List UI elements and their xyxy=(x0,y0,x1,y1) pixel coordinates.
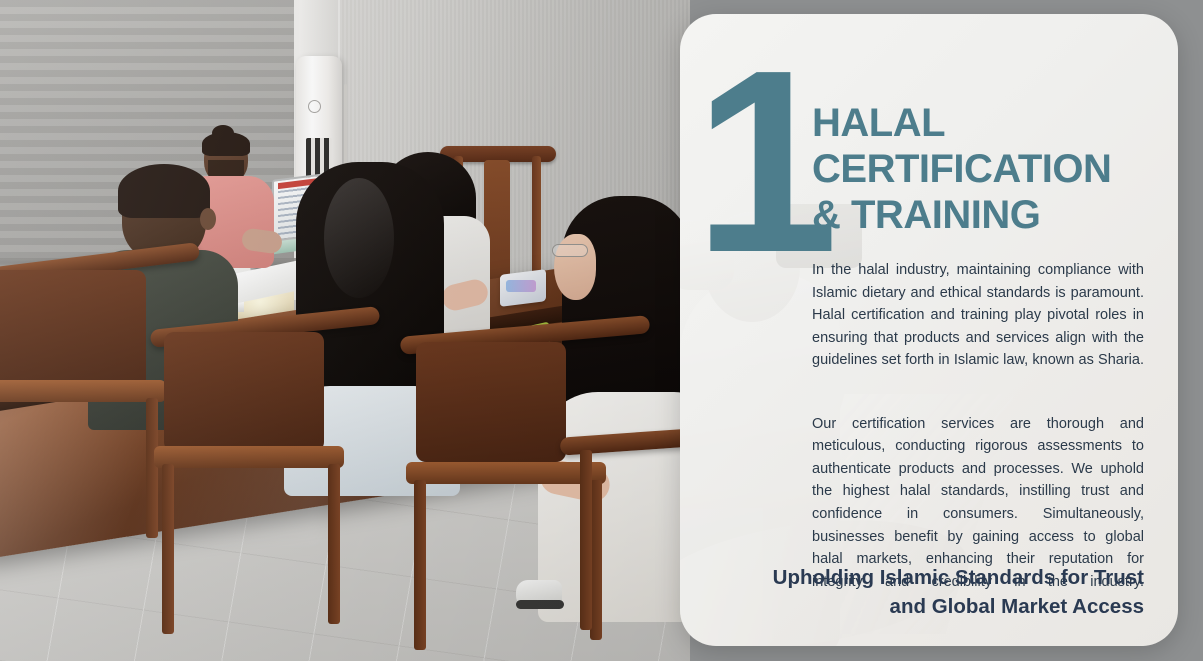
tagline: Upholding Islamic Standards for Trust an… xyxy=(760,563,1144,621)
tagline-line-1: Upholding Islamic Standards for Trust xyxy=(760,563,1144,592)
step-number: 1 xyxy=(694,32,831,292)
ac-logo-icon xyxy=(308,100,321,113)
hair-highlight xyxy=(324,178,394,298)
ear xyxy=(200,208,216,230)
slide-root: 1 HALAL CERTIFICATION & TRAINING In the … xyxy=(0,0,1203,661)
chair-back xyxy=(164,332,324,452)
paragraph-1: In the halal industry, maintaining compl… xyxy=(812,259,1144,395)
title-line-2: CERTIFICATION xyxy=(812,146,1152,192)
tagline-line-2: and Global Market Access xyxy=(760,592,1144,621)
foreground-chair xyxy=(150,318,410,648)
chair-leg xyxy=(414,480,426,650)
tissue-box-band xyxy=(506,280,536,292)
chair-leg xyxy=(580,450,592,630)
meeting-room-photo xyxy=(0,0,690,661)
chair-seat xyxy=(154,446,344,468)
eyeglasses xyxy=(552,244,588,257)
hair-bun xyxy=(212,125,234,141)
title-line-1: HALAL xyxy=(812,100,1152,146)
page-title: HALAL CERTIFICATION & TRAINING xyxy=(812,100,1152,238)
hair xyxy=(118,164,210,218)
photo-content xyxy=(0,0,690,661)
chair-back xyxy=(0,270,146,390)
chair-back xyxy=(416,342,566,462)
chair-seat xyxy=(0,380,166,402)
chair-leg xyxy=(162,464,174,634)
title-line-3: & TRAINING xyxy=(812,192,1152,238)
foreground-chair xyxy=(560,430,690,660)
chair-leg xyxy=(328,464,340,624)
